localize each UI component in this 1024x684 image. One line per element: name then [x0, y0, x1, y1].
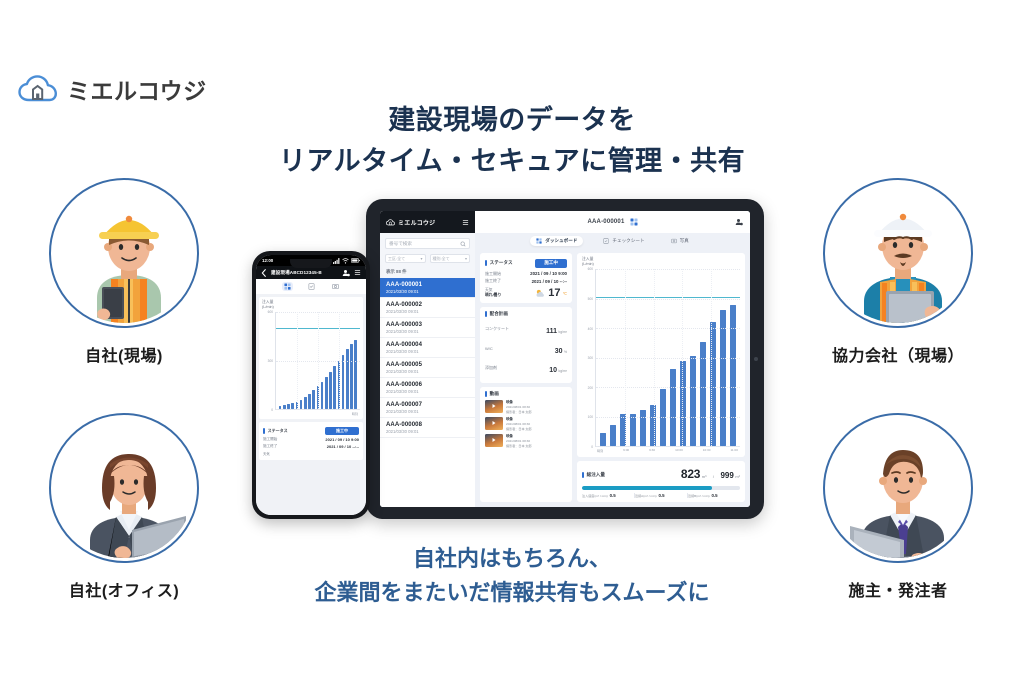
- speech-bubble-site: [49, 178, 199, 328]
- rate-label: 注入速度(m³ / min): [582, 493, 608, 498]
- status-time: 12:00: [262, 258, 273, 263]
- chart-bar: [690, 356, 696, 446]
- phone-chart-y-axis: 0300600: [262, 312, 275, 410]
- record-list[interactable]: AAA-000001 2021/03/30 09:01 AAA-000002 2…: [380, 278, 475, 507]
- gridline: [596, 328, 740, 329]
- search-input[interactable]: 番号で検索: [385, 238, 470, 249]
- rate-value: 0.5: [658, 493, 664, 498]
- gridline-vertical: [318, 312, 319, 409]
- status-row-value: 2021 / 09 / 10 --:--: [532, 279, 567, 284]
- chart-bar: [342, 355, 345, 410]
- mix-row-unit: kg/m³: [559, 330, 567, 334]
- video-timestamp: 2021/08/01 08:30: [506, 405, 530, 409]
- list-item-id: AAA-000008: [386, 422, 469, 428]
- x-tick-label: 9:00: [623, 448, 629, 453]
- chart-bar: [304, 397, 307, 409]
- y-tick-label: 400: [588, 327, 593, 331]
- headline-line-2: リアルタイム・セキュアに管理・共有: [262, 141, 762, 182]
- y-tick-label: 300: [588, 356, 593, 360]
- chevron-left-icon[interactable]: [261, 269, 267, 277]
- list-item[interactable]: AAA-000007 2021/03/30 09:01: [380, 398, 475, 418]
- status-row: 施工開始 2021 / 09 / 10 9:00: [485, 271, 567, 277]
- app-brand: ミエルコウジ: [386, 218, 435, 227]
- total-max-unit: m³: [735, 474, 740, 479]
- chart-bar: [350, 344, 353, 409]
- chart-x-axis: 時刻9:009:3010:0010:3011:00: [582, 447, 740, 453]
- filter-label: 工区:全て: [388, 256, 405, 262]
- mix-row-key: W/C: [485, 346, 493, 351]
- mix-row-value: 10: [549, 367, 557, 374]
- phone-screen: 12:00: [256, 255, 366, 515]
- phone-weather-label: 天気: [263, 451, 270, 456]
- phone-status-card: ステータス 施工中 施工開始 2021 / 09 / 10 9:00 施工終了 …: [259, 422, 363, 460]
- chart-bar: [346, 349, 349, 409]
- list-item-id: AAA-000003: [386, 322, 469, 328]
- rate-value: 0.5: [610, 493, 616, 498]
- brand-name: ミエルコウジ: [67, 72, 207, 106]
- result-count: 表示 88 件: [380, 267, 475, 278]
- injection-chart-card: 注入量 (L/min) 0100200300400500600 時刻9:0: [577, 253, 745, 457]
- video-timestamp: 2021/08/01 08:30: [506, 422, 530, 426]
- mix-row-unit: kg/m³: [559, 369, 567, 373]
- phone-chart-ylabel: (L/min): [262, 305, 274, 309]
- grid-view-icon[interactable]: [630, 218, 638, 226]
- list-item[interactable]: AAA-000006 2021/03/30 09:01: [380, 378, 475, 398]
- y-tick-label: 300: [268, 359, 273, 363]
- phone-status-value: 2021 / 09 / 10 --:--: [327, 444, 359, 449]
- tab-photo[interactable]: 写真: [665, 236, 695, 246]
- weather-row: 天気 晴れ/曇り 17 ℃: [485, 287, 567, 299]
- status-row-key: 施工開始: [485, 271, 501, 277]
- list-item-id: AAA-000004: [386, 342, 469, 348]
- tab-checksheet[interactable]: チェックシート: [597, 236, 650, 246]
- cloud-building-logo-icon: [386, 219, 395, 226]
- tab-label: 写真: [680, 238, 689, 244]
- gridline: [596, 358, 740, 359]
- progress-fill: [582, 486, 712, 490]
- phone-status-key: 施工開始: [263, 437, 277, 442]
- x-tick-label: 10:00: [675, 448, 683, 453]
- total-injection-card: 総注入量 823m³ / 999m³ 注入速度(m³ / min: [577, 461, 745, 502]
- persona-office-label: 自社(オフィス): [44, 577, 204, 601]
- persona-partner-label: 協力会社（現場）: [818, 342, 978, 366]
- temperature-unit: ℃: [563, 291, 568, 296]
- x-tick-label: 10:30: [703, 448, 711, 453]
- phone-chart-title: 注入量: [262, 300, 273, 304]
- chevron-down-icon: ▾: [465, 256, 467, 261]
- persona-partner: 協力会社（現場）: [818, 178, 978, 366]
- chart-y-axis: 0100200300400500600: [582, 269, 595, 447]
- gridline: [596, 387, 740, 388]
- app-brand-label: ミエルコウジ: [398, 218, 435, 227]
- filter-label: 種別:全て: [433, 256, 450, 262]
- chart-plot: [595, 269, 740, 447]
- gridline: [596, 269, 740, 270]
- mix-row-unit: %: [564, 350, 567, 354]
- mix-plan-title: 配合計画: [485, 311, 567, 317]
- list-item-timestamp: 2021/03/30 09:01: [386, 329, 469, 334]
- video-item[interactable]: 映像 2021/08/01 08:30 撮影者：日本 太郎: [485, 434, 567, 448]
- phone-chart-x-axis: 時刻: [262, 410, 360, 416]
- list-item[interactable]: AAA-000005 2021/03/30 09:01: [380, 358, 475, 378]
- list-item-id: AAA-000002: [386, 302, 469, 308]
- brand-logo: ミエルコウジ: [18, 72, 207, 106]
- document-id: AAA-000001: [587, 219, 624, 225]
- user-account-icon[interactable]: [342, 269, 350, 277]
- phone-notch: [290, 259, 332, 268]
- caption-line-2: 企業間をまたいだ情報共有もスムーズに: [282, 576, 742, 610]
- chart-bar: [308, 394, 311, 409]
- video-item[interactable]: 映像 2021/08/01 08:30 撮影者：日本 太郎: [485, 400, 567, 414]
- total-separator: /: [713, 474, 714, 479]
- phone-status-value: 2021 / 09 / 10 9:00: [325, 437, 359, 442]
- status-badge: 施工中: [535, 259, 567, 268]
- list-item-timestamp: 2021/03/30 09:01: [386, 309, 469, 314]
- x-tick-label: 9:30: [649, 448, 655, 453]
- rate-item: 近接B(m³ / min) 0.5: [688, 493, 740, 498]
- app-sidebar: ミエルコウジ 番号で検索: [380, 211, 475, 507]
- phone-page-title: 建設現場ABCD12345-B: [271, 270, 338, 276]
- rate-row: 注入速度(m³ / min) 0.5 近接A(m³ / min) 0.5 近接B…: [582, 493, 740, 498]
- list-item-timestamp: 2021/03/30 09:01: [386, 389, 469, 394]
- persona-owner-label: 施主・発注者: [818, 577, 978, 601]
- y-tick-label: 200: [588, 386, 593, 390]
- tablet-device: ミエルコウジ 番号で検索: [366, 199, 764, 519]
- list-item-timestamp: 2021/03/30 09:01: [386, 409, 469, 414]
- video-timestamp: 2021/08/01 08:30: [506, 439, 530, 443]
- phone-tab-checksheet[interactable]: [306, 282, 317, 291]
- page-title: 建設現場のデータを リアルタイム・セキュアに管理・共有: [262, 100, 762, 181]
- app-brand-bar: ミエルコウジ: [380, 211, 475, 233]
- phone-content: 注入量 (L/min) 0300600 時刻 ステータス: [256, 294, 366, 515]
- phone-status-key: 施工終了: [263, 444, 277, 449]
- chart-bar: [333, 366, 336, 409]
- checksheet-icon: [603, 238, 609, 244]
- search-icon: [460, 241, 466, 247]
- total-card-title: 総注入量: [582, 472, 605, 478]
- rate-value: 0.5: [711, 493, 717, 498]
- dashboard-icon: [284, 283, 291, 290]
- list-item-timestamp: 2021/03/30 09:01: [386, 349, 469, 354]
- status-card: ステータス 施工中 施工開始 2021 / 09 / 10 9:00 施工終了 …: [480, 253, 572, 303]
- speech-bubble-owner: [823, 413, 973, 563]
- weather-condition: 晴れ/曇り: [485, 293, 501, 299]
- video-thumbnail[interactable]: [485, 400, 503, 413]
- phone-tab-dashboard[interactable]: [282, 282, 293, 291]
- wifi-icon: [342, 258, 349, 264]
- construction-worker-tablet-avatar-icon: [54, 183, 194, 323]
- phone-status-badge: 施工中: [325, 427, 359, 435]
- sun-cloud-icon: [535, 288, 546, 299]
- signal-icon: [333, 258, 340, 264]
- y-tick-label: 500: [588, 297, 593, 301]
- office-woman-laptop-avatar-icon: [54, 418, 194, 558]
- list-item-id: AAA-000006: [386, 382, 469, 388]
- list-item-id: AAA-000007: [386, 402, 469, 408]
- chart-bar: [321, 382, 324, 409]
- chart-bar: [640, 410, 646, 446]
- persona-owner: 施主・発注者: [818, 413, 978, 601]
- list-item-id: AAA-000005: [386, 362, 469, 368]
- dashboard-icon: [536, 238, 542, 244]
- gridline-vertical: [654, 269, 655, 446]
- filter-select-type[interactable]: 種別:全て ▾: [430, 254, 471, 263]
- y-tick-label: 600: [588, 267, 593, 271]
- photo-icon: [332, 283, 339, 290]
- photo-icon: [671, 238, 677, 244]
- phone-tab-photo[interactable]: [330, 282, 341, 291]
- chart-bar: [730, 305, 736, 446]
- phone-status-title: ステータス: [263, 428, 288, 434]
- chart-bar: [600, 433, 606, 446]
- chart-ylabel: (L/min): [582, 262, 594, 266]
- gridline-vertical: [339, 312, 340, 409]
- list-item-timestamp: 2021/03/30 09:01: [386, 289, 469, 294]
- businessman-laptop-avatar-icon: [828, 418, 968, 558]
- phone-device: 12:00: [252, 251, 370, 519]
- search-placeholder: 番号で検索: [389, 241, 412, 247]
- gridline: [596, 299, 740, 300]
- battery-icon: [351, 258, 360, 263]
- persona-site: 自社(現場): [44, 178, 204, 366]
- persona-site-label: 自社(現場): [44, 342, 204, 366]
- chart-bar: [630, 414, 636, 446]
- total-unit: m³: [702, 474, 707, 479]
- chart-plot-area: 0100200300400500600: [582, 269, 740, 447]
- chevron-down-icon: ▾: [420, 256, 422, 261]
- video-item[interactable]: 映像 2021/08/01 08:30 撮影者：日本 太郎: [485, 417, 567, 431]
- rate-item: 注入速度(m³ / min) 0.5: [582, 493, 635, 498]
- list-item-timestamp: 2021/03/30 09:01: [386, 429, 469, 434]
- chart-bar: [670, 369, 676, 446]
- x-axis-label: 時刻: [597, 448, 603, 453]
- list-item-timestamp: 2021/03/30 09:01: [386, 369, 469, 374]
- tablet-screen: ミエルコウジ 番号で検索: [380, 211, 750, 507]
- status-card-title: ステータス: [485, 260, 513, 266]
- chart-bar: [660, 389, 666, 446]
- phone-chart-plot: [275, 312, 360, 410]
- mix-row-key: コンクリート: [485, 326, 509, 332]
- gridline-vertical: [682, 269, 683, 446]
- video-card: 動画 映像 2021/08/01 08:30 撮影者：日本 太郎: [480, 387, 572, 502]
- phone-tab-bar: [256, 279, 366, 294]
- mix-row-value: 111: [546, 328, 557, 335]
- user-account-icon[interactable]: [735, 218, 743, 226]
- speech-bubble-office: [49, 413, 199, 563]
- list-item[interactable]: AAA-000001 2021/03/30 09:01: [380, 278, 475, 298]
- rate-label: 近接B(m³ / min): [688, 493, 709, 498]
- total-max: 999: [720, 471, 733, 480]
- rate-item: 近接A(m³ / min) 0.5: [635, 493, 688, 498]
- app-header: AAA-000001: [475, 211, 750, 233]
- chart-title: 注入量: [582, 257, 593, 261]
- list-item[interactable]: AAA-000008 2021/03/30 09:01: [380, 418, 475, 438]
- mix-plan-card: 配合計画 コンクリート 111kg/m³ W/C 30% 添加剤: [480, 307, 572, 383]
- chart-bar: [354, 340, 357, 409]
- checksheet-icon: [308, 283, 315, 290]
- y-tick-label: 0: [271, 408, 273, 412]
- progress-bar: [582, 486, 740, 490]
- gridline-vertical: [711, 269, 712, 446]
- video-thumbnail[interactable]: [485, 417, 503, 430]
- filter-row: 工区:全て ▾ 種別:全て ▾: [385, 254, 470, 263]
- footer-caption: 自社内はもちろん、 企業間をまたいだ情報共有もスムーズに: [282, 542, 742, 610]
- gridline-vertical: [297, 312, 298, 409]
- mix-row: W/C 30%: [485, 340, 567, 358]
- hamburger-icon[interactable]: [462, 219, 469, 226]
- caption-line-1: 自社内はもちろん、: [282, 542, 742, 576]
- speech-bubble-partner: [823, 178, 973, 328]
- phone-chart-plot-area: 0300600: [262, 312, 360, 410]
- chart-bar: [720, 310, 726, 446]
- x-tick-label: 11:00: [730, 448, 738, 453]
- chart-column: 注入量 (L/min) 0100200300400500600 時刻9:0: [577, 253, 745, 502]
- chart-bar: [325, 377, 328, 409]
- detail-column: ステータス 施工中 施工開始 2021 / 09 / 10 9:00 施工終了 …: [480, 253, 572, 502]
- phone-chart-card: 注入量 (L/min) 0300600 時刻: [259, 297, 363, 419]
- tab-label: ダッシュボード: [545, 238, 577, 244]
- phone-status-row: 施工終了 2021 / 09 / 10 --:--: [263, 444, 359, 449]
- persona-office: 自社(オフィス): [44, 413, 204, 601]
- y-tick-label: 100: [588, 415, 593, 419]
- video-author: 撮影者：日本 太郎: [506, 444, 532, 448]
- video-card-title: 動画: [485, 391, 567, 397]
- headline-line-1: 建設現場のデータを: [262, 100, 762, 141]
- list-item[interactable]: AAA-000004 2021/03/30 09:01: [380, 338, 475, 358]
- status-row: 施工終了 2021 / 09 / 10 --:--: [485, 278, 567, 284]
- chart-bar: [610, 425, 616, 446]
- x-axis-label: 時刻: [352, 411, 358, 416]
- list-item-id: AAA-000001: [386, 282, 469, 288]
- video-thumbnail[interactable]: [485, 434, 503, 447]
- gridline-vertical: [625, 269, 626, 446]
- app-content: ステータス 施工中 施工開始 2021 / 09 / 10 9:00 施工終了 …: [475, 249, 750, 507]
- total-value: 823: [681, 467, 700, 481]
- video-author: 撮影者：日本 太郎: [506, 427, 532, 431]
- gridline: [596, 446, 740, 447]
- tab-label: チェックシート: [612, 238, 644, 244]
- y-tick-label: 0: [591, 445, 593, 449]
- gridline: [596, 417, 740, 418]
- mix-row-value: 30: [555, 348, 563, 355]
- phone-status-row: 施工開始 2021 / 09 / 10 9:00: [263, 437, 359, 442]
- gridline: [276, 409, 360, 410]
- app-main: AAA-000001: [475, 211, 750, 507]
- cloud-building-logo-icon: [18, 74, 58, 104]
- rate-label: 近接A(m³ / min): [635, 493, 656, 498]
- video-author: 撮影者：日本 太郎: [506, 410, 532, 414]
- mix-row: コンクリート 111kg/m³: [485, 320, 567, 338]
- chart-bar: [300, 400, 303, 409]
- list-item[interactable]: AAA-000002 2021/03/30 09:01: [380, 298, 475, 318]
- hamburger-icon[interactable]: [354, 269, 361, 276]
- chart-bar: [329, 372, 332, 409]
- partner-worker-tablet-avatar-icon: [828, 183, 968, 323]
- status-row-key: 施工終了: [485, 278, 501, 284]
- mix-row-key: 添加剤: [485, 365, 497, 371]
- slide-canvas: ミエルコウジ 建設現場のデータを リアルタイム・セキュアに管理・共有 自社内はも…: [0, 0, 1024, 684]
- status-row-value: 2021 / 09 / 10 9:00: [530, 271, 567, 276]
- y-tick-label: 600: [268, 310, 273, 314]
- list-item[interactable]: AAA-000003 2021/03/30 09:01: [380, 318, 475, 338]
- app-tab-bar: ダッシュボード チェックシート 写真: [475, 233, 750, 249]
- tablet-camera-icon: [754, 357, 758, 361]
- mix-row: 添加剤 10kg/m³: [485, 359, 567, 377]
- chart-bar: [312, 390, 315, 409]
- tab-dashboard[interactable]: ダッシュボード: [530, 236, 583, 246]
- filter-select-area[interactable]: 工区:全て ▾: [385, 254, 426, 263]
- temperature-value: 17: [548, 287, 560, 299]
